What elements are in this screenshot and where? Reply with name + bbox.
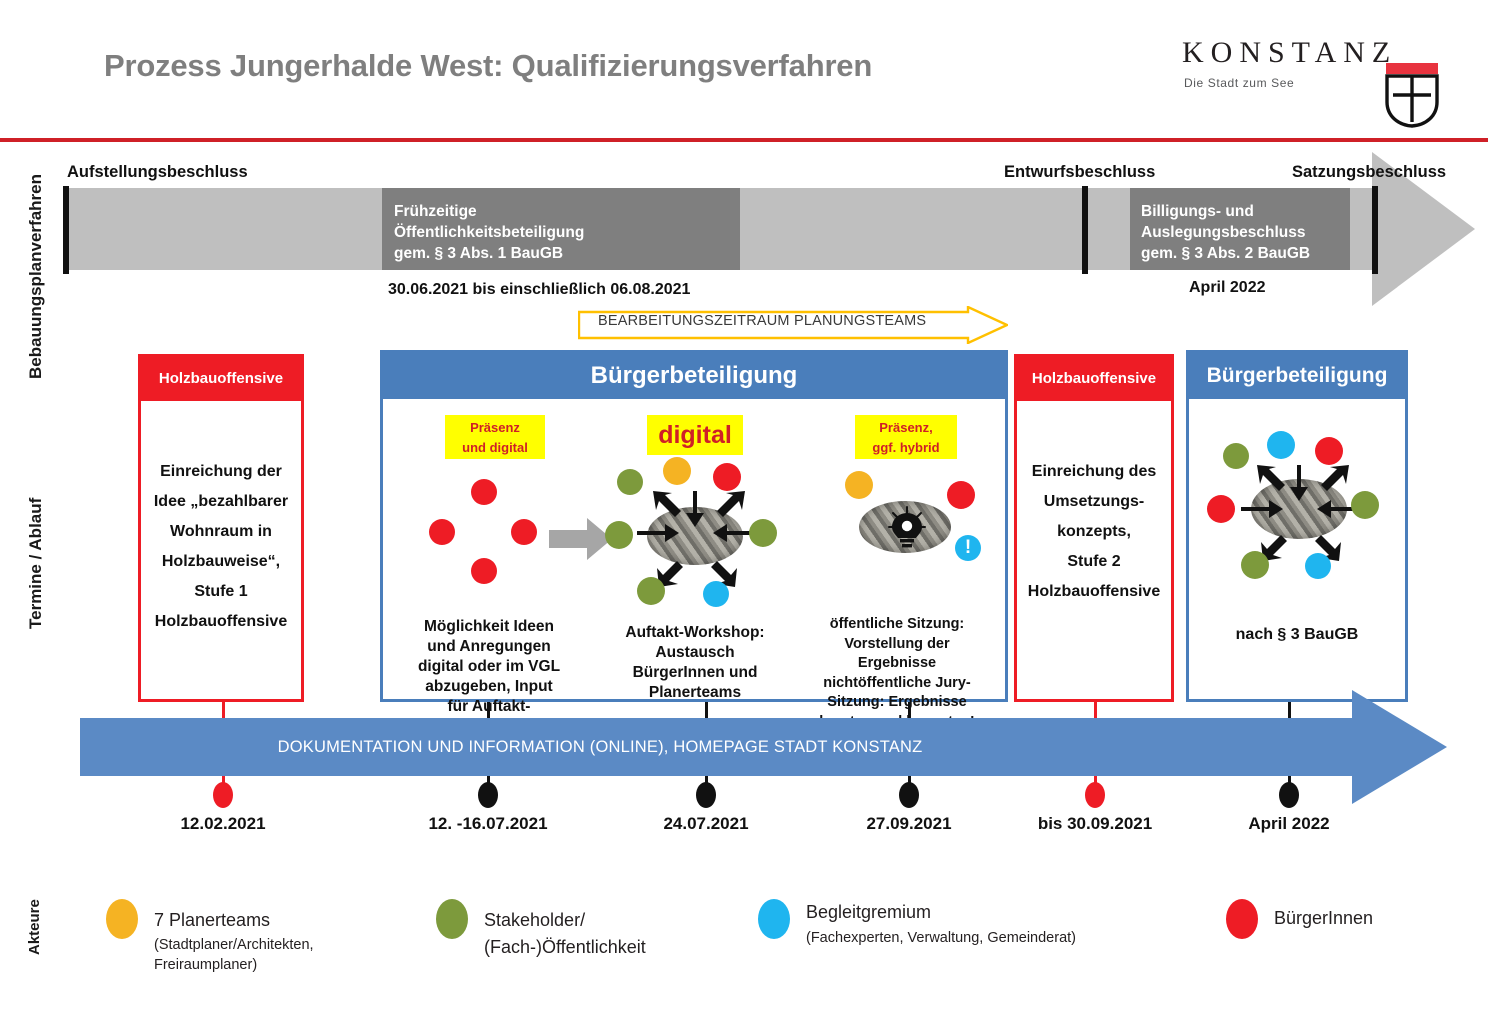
planerteam-dot: [663, 457, 691, 485]
citizen-dot: [429, 519, 455, 545]
legend1-sub1: (Fach-)Öffentlichkeit: [484, 935, 646, 959]
date-pin-dot-6: [1279, 782, 1299, 808]
citizen-dot: [1315, 437, 1343, 465]
stakeholder-dot: [1351, 491, 1379, 519]
begleitgremium-dot: [1305, 553, 1331, 579]
date-pin-dot-4: [899, 782, 919, 808]
citizen-dot: [471, 558, 497, 584]
red1-line6: Holzbauoffensive: [149, 607, 293, 637]
legend-dot-begleitgremium: [758, 899, 790, 939]
phase1-line3: gem. § 3 Abs. 1 BauGB: [394, 243, 584, 264]
tag-digital: digital: [647, 415, 743, 455]
legend-title-planerteams: 7 Planerteams: [154, 910, 270, 931]
column-oeffentliche-sitzung: Präsenz, ggf. hybrid !: [797, 405, 997, 701]
panel-buergerbeteiligung-2: Bürgerbeteiligung nac: [1186, 350, 1408, 702]
phase2-line1: Billigungs- und: [1141, 201, 1310, 222]
begleitgremium-dot: [703, 581, 729, 607]
citizen-dot: [713, 463, 741, 491]
milestone-label-satzungsbeschluss: Satzungsbeschluss: [1292, 163, 1446, 182]
tag3-line1: Präsenz,: [855, 418, 957, 438]
milestone-label-aufstellungsbeschluss: Aufstellungsbeschluss: [67, 163, 248, 182]
legend-sub-stakeholder: (Fach-)Öffentlichkeit: [484, 935, 646, 959]
tag2-line1: digital: [647, 415, 743, 455]
red1-line5: Stufe 1: [149, 577, 293, 607]
tag1-line1: Präsenz: [445, 418, 545, 438]
milestone-tick-1: [63, 186, 69, 274]
planerteam-dot: [845, 471, 873, 499]
red1-line3: Wohnraum in: [149, 517, 293, 547]
date-label-2: 12. -16.07.2021: [408, 814, 568, 834]
bearbeitungszeitraum-label: BEARBEITUNGSZEITRAUM PLANUNGSTEAMS: [598, 313, 926, 329]
date-label-6: April 2022: [1209, 814, 1369, 834]
column-auftakt-workshop: digital Aufta: [595, 405, 795, 701]
caption-blue-2: nach § 3 BauGB: [1189, 625, 1405, 645]
konstanz-logo: KONSTANZ Die Stadt zum See: [1182, 32, 1442, 122]
stakeholder-dot: [605, 521, 633, 549]
phase-2-date: April 2022: [1189, 279, 1265, 297]
date-label-4: 27.09.2021: [829, 814, 989, 834]
cap2-line2: Austausch: [595, 643, 795, 663]
cap2-line1: Auftakt-Workshop:: [595, 623, 795, 643]
band-label-termine-ablauf: Termine / Ablauf: [26, 448, 46, 678]
panel-red-2-header: Holzbauoffensive: [1017, 357, 1171, 401]
legend-dot-planerteams: [106, 899, 138, 939]
cap3-line1: öffentliche Sitzung:: [797, 615, 997, 635]
panel-holzbauoffensive-2: Holzbauoffensive Einreichung des Umsetzu…: [1014, 354, 1174, 702]
tag-praesenz-und-digital: Präsenz und digital: [445, 415, 545, 459]
date-label-1: 12.02.2021: [143, 814, 303, 834]
band-label-akteure: Akteure: [26, 872, 43, 982]
date-pin-dot-3: [696, 782, 716, 808]
red1-line2: Idee „bezahlbarer: [149, 487, 293, 517]
attention-icon: !: [955, 535, 981, 561]
column-ideen-einreichen: Präsenz und digital Möglichkeit Ideen un…: [389, 405, 589, 701]
date-pin-dot-5: [1085, 782, 1105, 808]
tag-praesenz-hybrid: Präsenz, ggf. hybrid: [855, 415, 957, 459]
legend0-sub2: Freiraumplaner): [154, 955, 314, 975]
phase2-line2: Auslegungsbeschluss: [1141, 222, 1310, 243]
cap1-line1: Möglichkeit Ideen: [389, 617, 589, 637]
panel-holzbauoffensive-1: Holzbauoffensive Einreichung der Idee „b…: [138, 354, 304, 702]
citizen-dot: [511, 519, 537, 545]
logo-wordmark: KONSTANZ: [1182, 36, 1397, 70]
cap3-line4: nichtöffentliche Jury-: [797, 674, 997, 694]
citizen-dot: [947, 481, 975, 509]
cap3-line2: Vorstellung der: [797, 635, 997, 655]
cap2-line3: BürgerInnen und: [595, 663, 795, 683]
panel-buergerbeteiligung-main: Bürgerbeteiligung Präsenz und digital Mö…: [380, 350, 1008, 702]
legend-sub-begleitgremium: (Fachexperten, Verwaltung, Gemeinderat): [806, 928, 1076, 948]
citizen-dot: [471, 479, 497, 505]
legend-title-buergerinnen: BürgerInnen: [1274, 908, 1373, 929]
panel-blue-main-header: Bürgerbeteiligung: [383, 353, 1005, 399]
legend0-sub1: (Stadtplaner/Architekten,: [154, 935, 314, 955]
panel-blue-2-header: Bürgerbeteiligung: [1189, 353, 1405, 399]
page-title: Prozess Jungerhalde West: Qualifizierung…: [104, 48, 872, 84]
stakeholder-dot: [1241, 551, 1269, 579]
blue2-graphic: [1189, 409, 1405, 609]
red2-line1: Einreichung des: [1025, 457, 1163, 487]
cap3-line5: Sitzung: Ergebnisse: [797, 693, 997, 713]
legend2-sub1: (Fachexperten, Verwaltung, Gemeinderat): [806, 928, 1076, 948]
date-label-5: bis 30.09.2021: [1015, 814, 1175, 834]
date-pin-dot-1: [213, 782, 233, 808]
panel-red-1-body: Einreichung der Idee „bezahlbarer Wohnra…: [149, 457, 293, 637]
doc-arrow-label: DOKUMENTATION UND INFORMATION (ONLINE), …: [80, 738, 1120, 757]
cap1-line2: und Anregungen: [389, 637, 589, 657]
date-pin-dot-2: [478, 782, 498, 808]
cap3-line3: Ergebnisse: [797, 654, 997, 674]
band-label-bebauungsplanverfahren: Bebauungsplanverfahren: [26, 152, 46, 402]
legend-title-stakeholder: Stakeholder/: [484, 910, 585, 931]
slide-root: Prozess Jungerhalde West: Qualifizierung…: [0, 0, 1488, 1036]
cap1-line4: abzugeben, Input: [389, 677, 589, 697]
red1-line4: Holzbauweise“,: [149, 547, 293, 577]
stakeholder-dot: [1223, 443, 1249, 469]
milestone-tick-2: [1082, 186, 1088, 274]
phase-1-date-range: 30.06.2021 bis einschließlich 06.08.2021: [388, 281, 690, 299]
stakeholder-dot: [617, 469, 643, 495]
crest-icon: [1384, 62, 1440, 128]
caption-column-3: öffentliche Sitzung: Vorstellung der Erg…: [797, 615, 997, 732]
tag3-line2: ggf. hybrid: [855, 438, 957, 458]
legend-dot-stakeholder: [436, 899, 468, 939]
legend-sub-planerteams: (Stadtplaner/Architekten, Freiraumplaner…: [154, 935, 314, 975]
date-label-3: 24.07.2021: [626, 814, 786, 834]
cap2-line4: Planerteams: [595, 683, 795, 703]
red1-line1: Einreichung der: [149, 457, 293, 487]
legend-dot-buergerinnen: [1226, 899, 1258, 939]
stakeholder-dot: [749, 519, 777, 547]
idea-bulb-icon: [887, 505, 927, 549]
panel-red-1-header: Holzbauoffensive: [141, 357, 301, 401]
phase2-line3: gem. § 3 Abs. 2 BauGB: [1141, 243, 1310, 264]
red2-line4: Stufe 2: [1025, 547, 1163, 577]
citizen-dot: [1207, 495, 1235, 523]
timeline-phase-1-text: Frühzeitige Öffentlichkeitsbeteiligung g…: [394, 201, 584, 264]
red2-line3: konzepts,: [1025, 517, 1163, 547]
cap1-line3: digital oder im VGL: [389, 657, 589, 677]
phase1-line1: Frühzeitige: [394, 201, 584, 222]
begleitgremium-dot: [1267, 431, 1295, 459]
phase1-line2: Öffentlichkeitsbeteiligung: [394, 222, 584, 243]
red2-line5: Holzbauoffensive: [1025, 577, 1163, 607]
caption-column-2: Auftakt-Workshop: Austausch BürgerInnen …: [595, 623, 795, 703]
milestone-tick-3: [1372, 186, 1378, 274]
stakeholder-dot: [637, 577, 665, 605]
header-divider: [0, 138, 1488, 142]
timeline-phase-2-text: Billigungs- und Auslegungsbeschluss gem.…: [1141, 201, 1310, 264]
red2-line2: Umsetzungs-: [1025, 487, 1163, 517]
panel-red-2-body: Einreichung des Umsetzungs- konzepts, St…: [1025, 457, 1163, 607]
tag1-line2: und digital: [445, 438, 545, 458]
logo-tagline: Die Stadt zum See: [1184, 76, 1294, 90]
legend-title-begleitgremium: Begleitgremium: [806, 902, 931, 923]
milestone-label-entwurfsbeschluss: Entwurfsbeschluss: [1004, 163, 1155, 182]
